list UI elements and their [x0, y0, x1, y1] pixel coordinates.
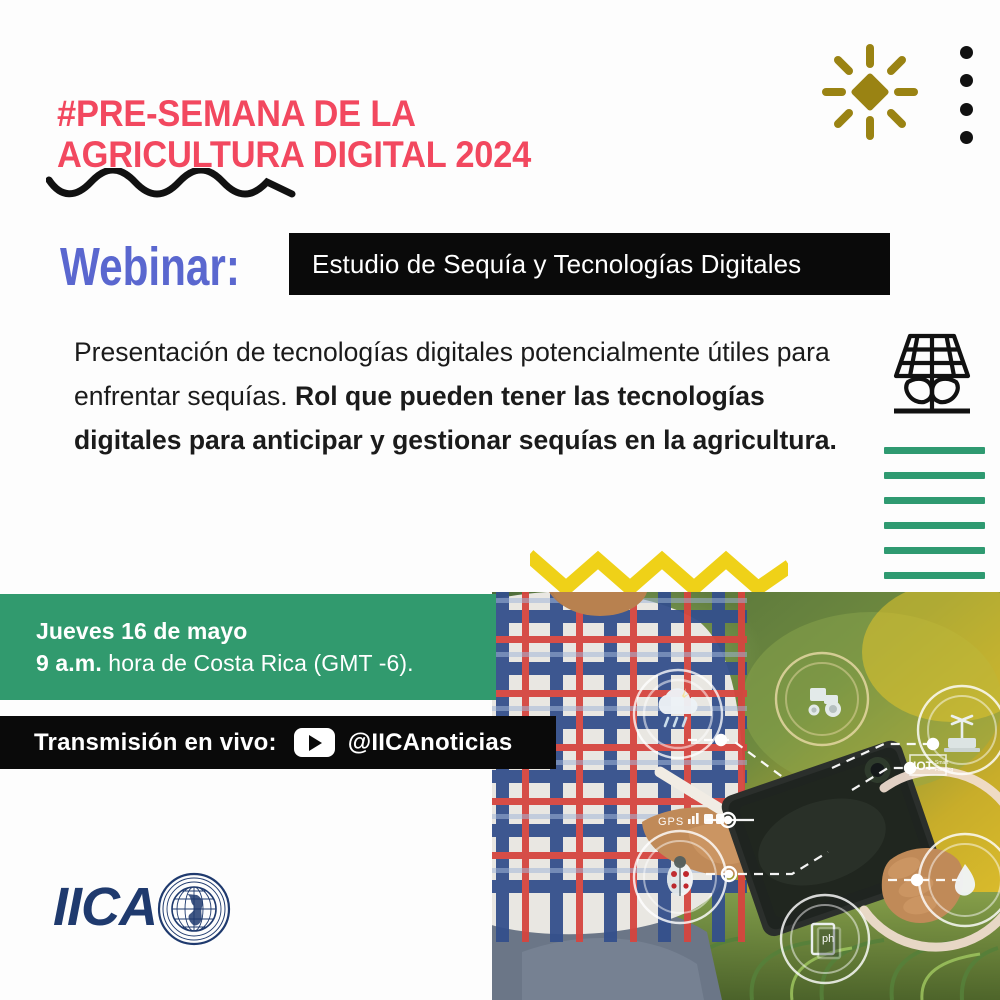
green-line-6 [884, 572, 985, 579]
svg-text:Smart: Smart [935, 760, 949, 766]
svg-text:ph: ph [822, 933, 834, 945]
dot-1 [960, 46, 973, 59]
event-date: Jueves 16 de mayo [36, 616, 496, 647]
poster-canvas: #PRE-SEMANA DE LA AGRICULTURA DIGITAL 20… [0, 0, 1000, 1000]
youtube-icon[interactable] [294, 728, 335, 757]
iica-logo: IICA [53, 872, 253, 950]
dot-3 [960, 103, 973, 116]
dot-2 [960, 74, 973, 87]
iica-wordmark: IICA [53, 880, 157, 934]
dot-4 [960, 131, 973, 144]
webinar-title-bar: Estudio de Sequía y Tecnologías Digitale… [289, 233, 890, 295]
green-line-4 [884, 522, 985, 529]
svg-text:IOT: IOT [913, 759, 934, 773]
event-timezone: hora de Costa Rica (GMT -6). [102, 650, 414, 676]
green-line-2 [884, 472, 985, 479]
green-line-5 [884, 547, 985, 554]
svg-text:GPS: GPS [658, 816, 684, 828]
event-description: Presentación de tecnologías digitales po… [74, 330, 849, 462]
green-line-1 [884, 447, 985, 454]
youtube-handle[interactable]: @IICAnoticias [348, 729, 513, 757]
farmer-tablet-photo: ph GPS IOT Smart Far [492, 592, 1000, 1000]
four-dots-icon [955, 46, 977, 144]
webinar-title: Estudio de Sequía y Tecnologías Digitale… [312, 249, 801, 280]
event-time: 9 a.m. hora de Costa Rica (GMT -6). [36, 647, 496, 679]
hashtag-line-1: #PRE-SEMANA DE LA [57, 93, 416, 134]
sun-icon [820, 42, 920, 142]
webinar-label: Webinar: [60, 241, 240, 295]
webinar-label-row: Webinar: [60, 228, 270, 308]
live-broadcast-bar: Transmisión en vivo: @IICAnoticias [0, 716, 556, 769]
broadcast-label: Transmisión en vivo: [34, 729, 277, 757]
event-time-value: 9 a.m. [36, 650, 102, 676]
wavy-line-icon [46, 168, 296, 202]
svg-text:Farming: Farming [935, 767, 954, 773]
iica-globe-seal-icon [157, 872, 231, 946]
play-triangle-icon [309, 735, 322, 751]
schedule-block: Jueves 16 de mayo 9 a.m. hora de Costa R… [0, 594, 496, 700]
green-line-3 [884, 497, 985, 504]
solar-panel-plant-icon [884, 328, 980, 420]
yellow-zigzag-icon [530, 548, 788, 596]
